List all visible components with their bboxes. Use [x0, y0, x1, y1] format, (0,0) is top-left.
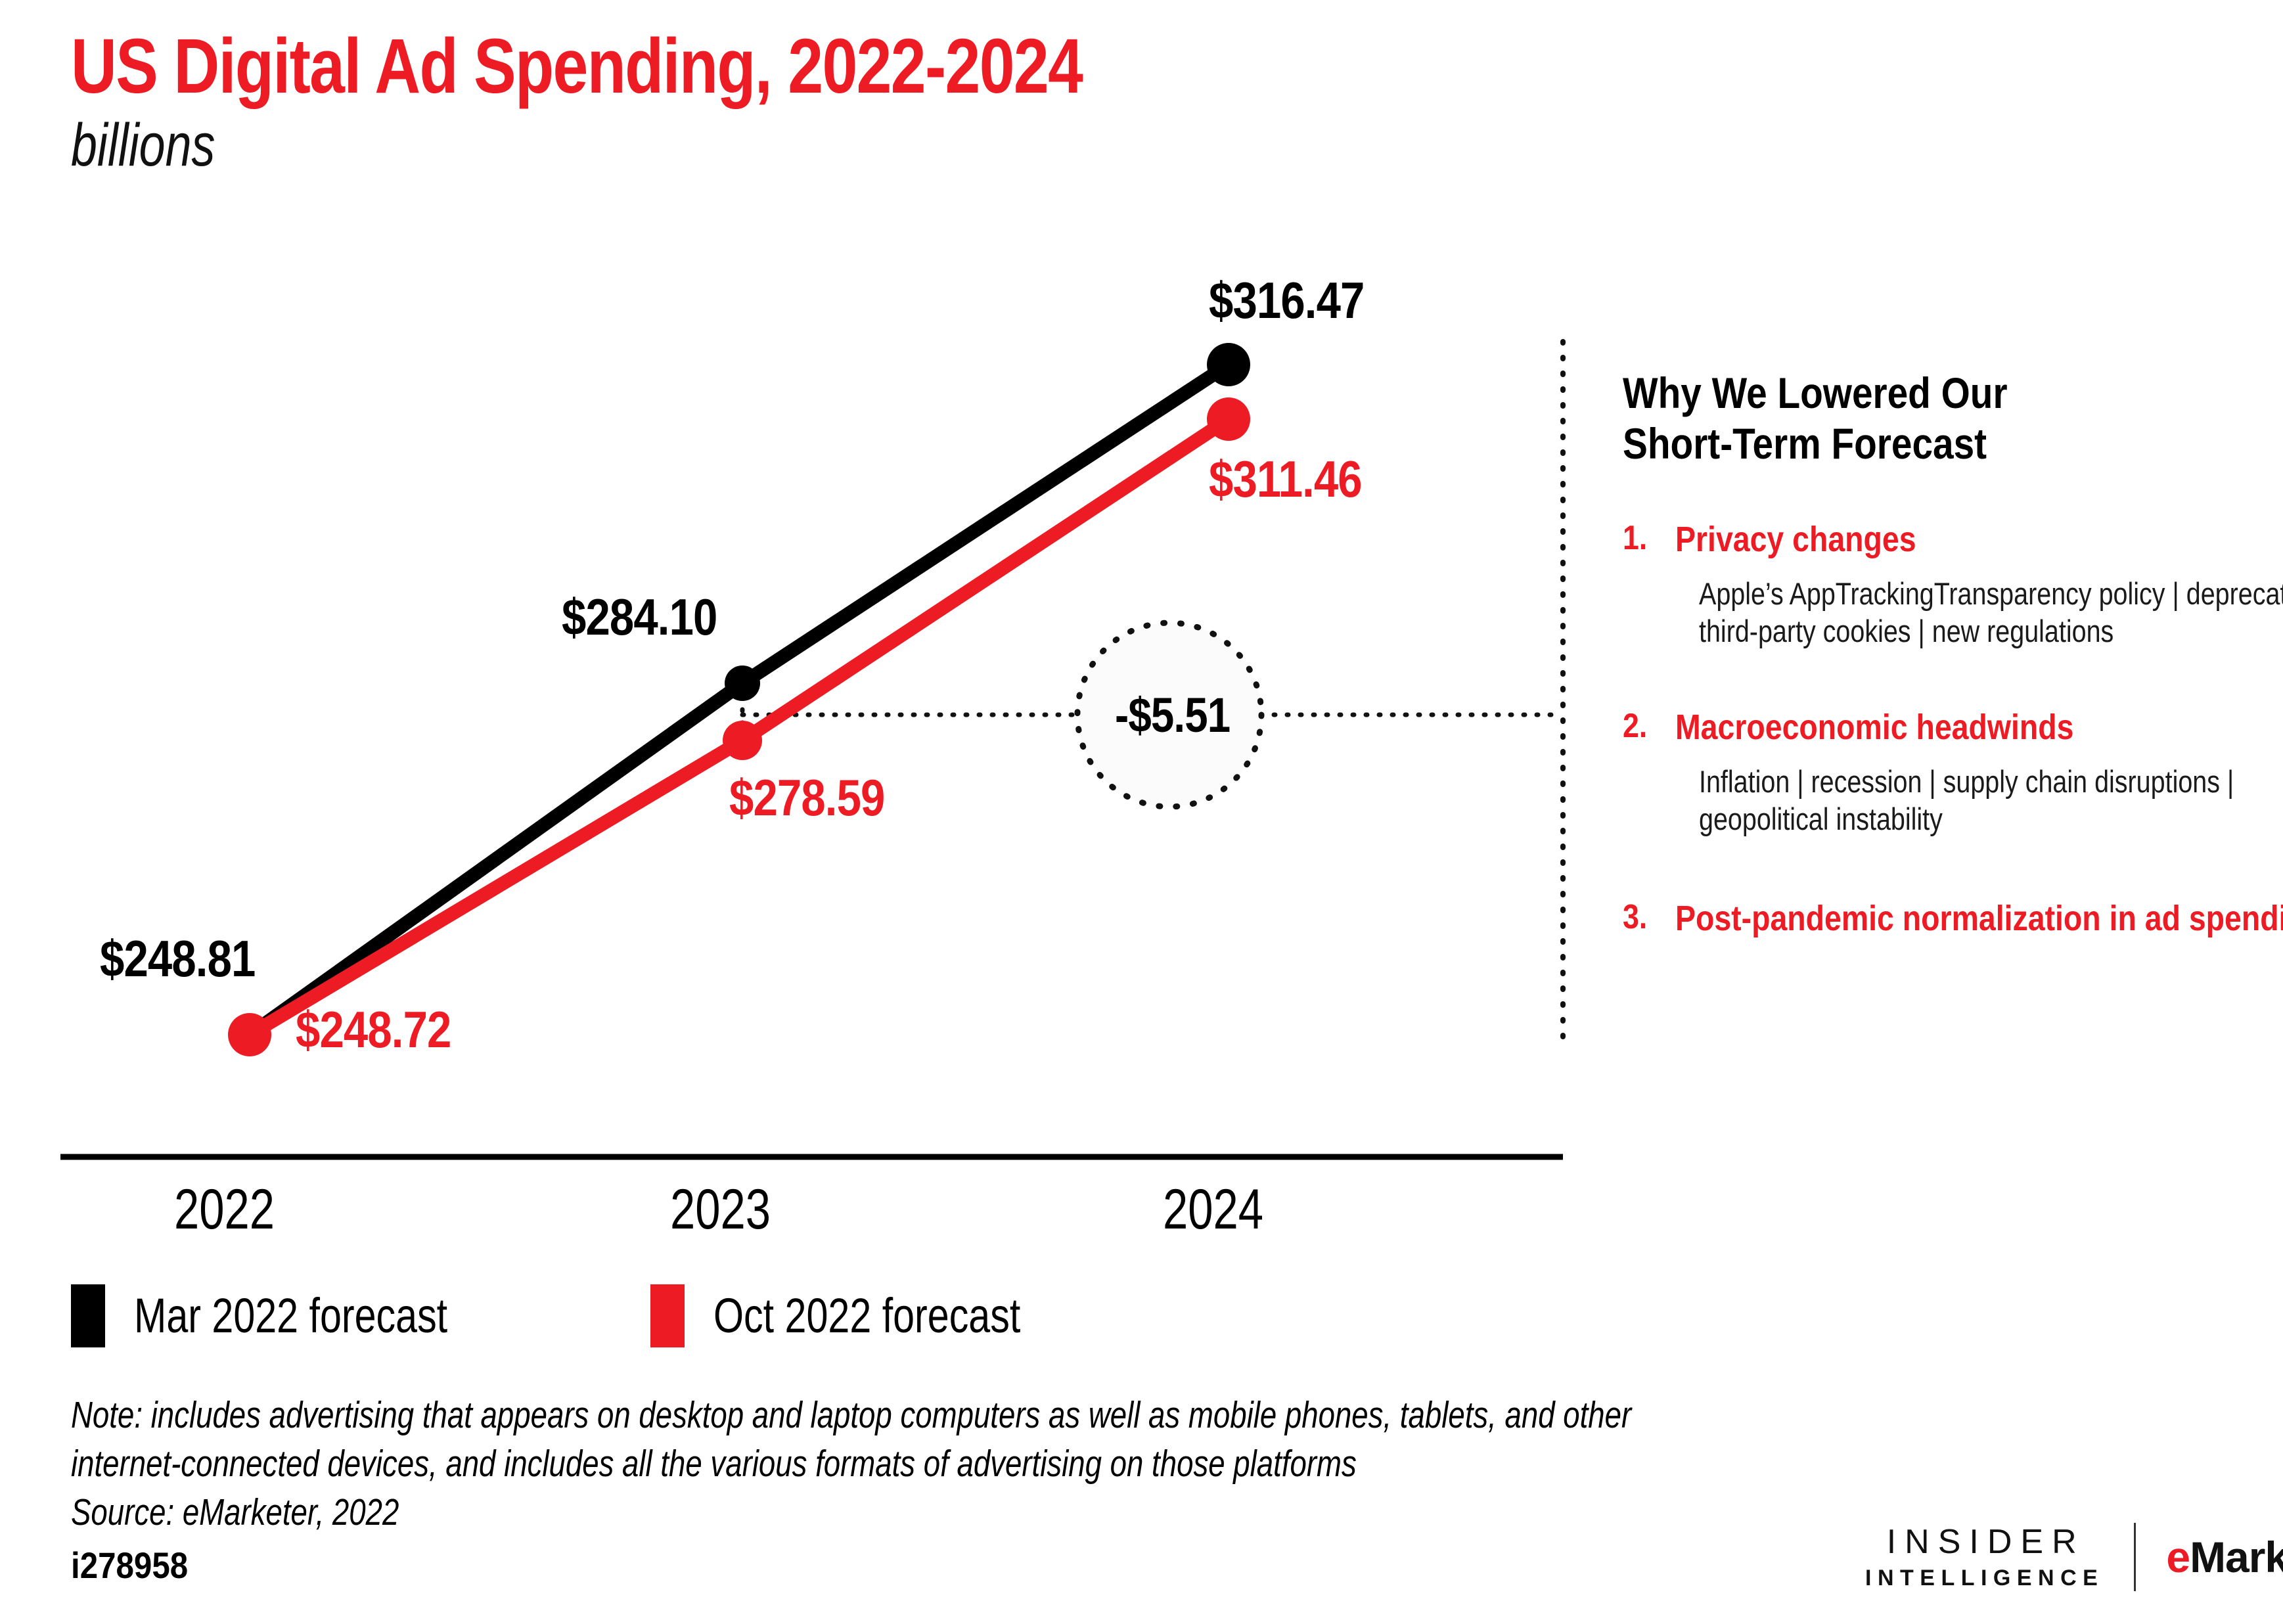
emarketer-logo-e: e — [2166, 1533, 2190, 1581]
logo-divider — [2134, 1523, 2136, 1591]
legend-label-mar-2022-forecast: Mar 2022 forecast — [134, 1292, 447, 1340]
reason-title-2: Macroeconomic headwinds — [1675, 708, 2283, 748]
panel-heading-line-2: Short-Term Forecast — [1623, 418, 2261, 469]
insider-logo-line-2: INTELLIGENCE — [1859, 1566, 2104, 1590]
data-point-mar-2022-2023 — [725, 665, 760, 701]
data-label-mar-2022-2024: $316.47 — [1209, 275, 1364, 326]
line-chart-plot-area — [0, 0, 1590, 1183]
data-label-mar-2022-2023: $284.10 — [562, 591, 717, 643]
reason-title-1: Privacy changes — [1675, 520, 2283, 560]
legend-item-mar-2022-forecast[interactable]: Mar 2022 forecast — [71, 1284, 526, 1347]
panel-heading-line-1: Why We Lowered Our — [1623, 368, 2261, 418]
gap-annotation-label: -$5.51 — [1115, 691, 1230, 740]
reason-item-3: 3. Post-pandemic normalization in ad spe… — [1623, 899, 2267, 939]
note-line-2: internet-connected devices, and includes… — [71, 1439, 1711, 1488]
data-point-oct-2022-2024 — [1207, 397, 1250, 441]
legend-swatch-black-icon — [71, 1284, 105, 1347]
figure-id: i278958 — [71, 1547, 188, 1584]
data-label-mar-2022-2022: $248.81 — [100, 933, 255, 984]
footnote-block: Note: includes advertising that appears … — [71, 1391, 1711, 1537]
reason-item-2: 2. Macroeconomic headwinds Inflation | r… — [1623, 708, 2267, 838]
emarketer-logo: eMarketer® — [2166, 1535, 2283, 1579]
note-line-1: Note: includes advertising that appears … — [71, 1391, 1711, 1439]
x-tick-label-2024: 2024 — [1163, 1181, 1263, 1238]
reason-title-3: Post-pandemic normalization in ad spendi… — [1675, 899, 2283, 939]
x-tick-label-2023: 2023 — [670, 1181, 771, 1238]
forecast-reasons-panel: Why We Lowered Our Short-Term Forecast 1… — [1623, 368, 2267, 939]
source-line: Source: eMarketer, 2022 — [71, 1488, 1711, 1537]
data-label-oct-2022-2024: $311.46 — [1209, 453, 1362, 505]
panel-heading: Why We Lowered Our Short-Term Forecast — [1623, 368, 2261, 468]
emarketer-logo-word: Marketer — [2190, 1533, 2283, 1581]
reason-body-1: Apple’s AppTrackingTransparency policy |… — [1699, 575, 2283, 650]
chart-legend: Mar 2022 forecast Oct 2022 forecast — [71, 1284, 1098, 1347]
insider-logo-line-1: INSIDER — [1878, 1523, 2085, 1561]
data-label-oct-2022-2023: $278.59 — [729, 772, 884, 823]
reason-item-1: 1. Privacy changes Apple’s AppTrackingTr… — [1623, 520, 2267, 650]
legend-label-oct-2022-forecast: Oct 2022 forecast — [713, 1292, 1020, 1340]
data-point-oct-2022-2023 — [723, 721, 762, 760]
logo-area: INSIDER INTELLIGENCE eMarketer® — [1859, 1523, 2283, 1591]
reason-number-1: 1. — [1623, 520, 1647, 557]
reason-number-2: 2. — [1623, 708, 1647, 745]
data-point-oct-2022-2022 — [228, 1013, 271, 1056]
x-tick-label-2022: 2022 — [174, 1181, 275, 1238]
data-label-oct-2022-2022: $248.72 — [296, 1004, 451, 1055]
legend-item-oct-2022-forecast[interactable]: Oct 2022 forecast — [650, 1284, 1097, 1347]
insider-intelligence-logo: INSIDER INTELLIGENCE — [1859, 1523, 2104, 1591]
legend-swatch-red-icon — [650, 1284, 685, 1347]
reason-number-3: 3. — [1623, 899, 1647, 936]
data-point-mar-2022-2024 — [1207, 343, 1250, 386]
reason-body-2: Inflation | recession | supply chain dis… — [1699, 763, 2283, 838]
